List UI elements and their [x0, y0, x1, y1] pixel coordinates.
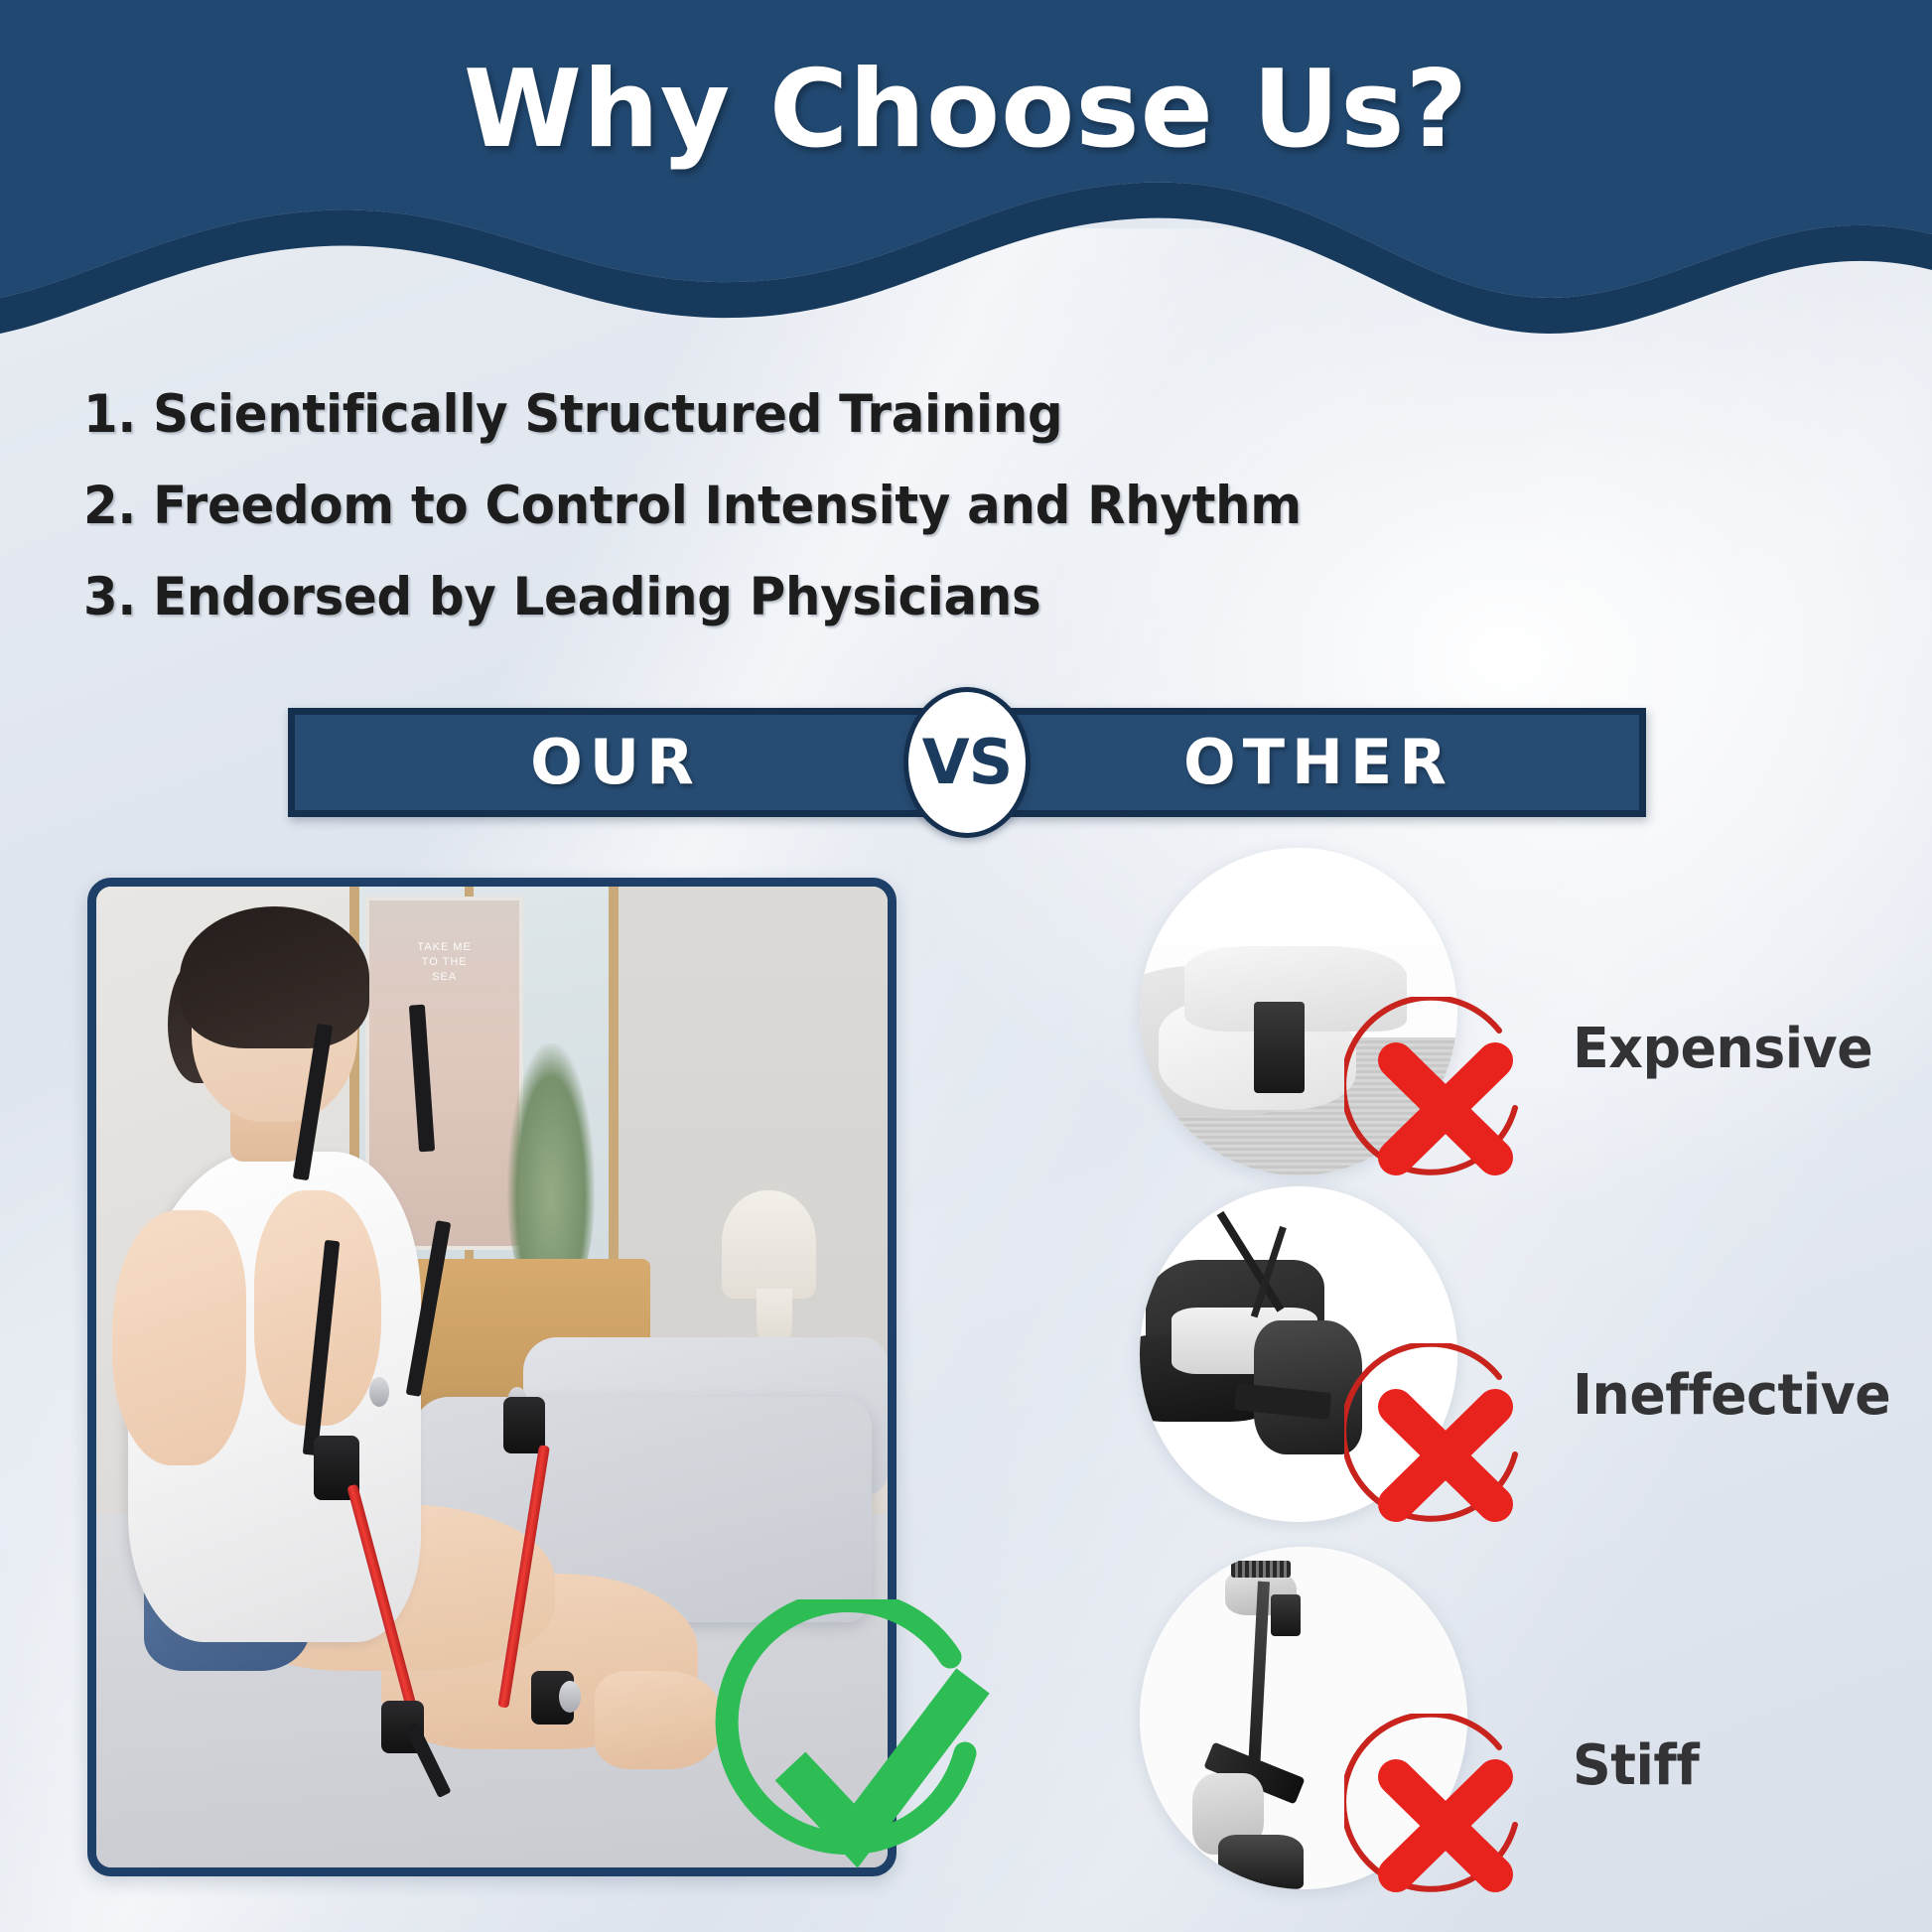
vs-badge-label: VS: [922, 732, 1013, 793]
poster-line-2: TO THE: [365, 955, 523, 970]
other-product-3: Stiff: [1140, 1547, 1894, 1884]
model-hair: [180, 906, 369, 1048]
poster-text: TAKE ME TO THE SEA: [365, 940, 523, 985]
other-product-2: Ineffective: [1140, 1186, 1894, 1504]
banner-label-other: OTHER: [991, 708, 1646, 817]
header-banner: Why Choose Us?: [0, 0, 1932, 338]
model-left-arm: [112, 1210, 246, 1465]
other-product-2-label: Ineffective: [1573, 1363, 1890, 1428]
red-x-circle-icon: [1344, 1343, 1555, 1554]
benefit-item-2: 2. Freedom to Control Intensity and Rhyt…: [83, 461, 1297, 552]
carabiner-left: [369, 1377, 389, 1407]
other-product-3-label: Stiff: [1573, 1733, 1699, 1798]
infographic-canvas: Why Choose Us? 1. Scientifically Structu…: [0, 0, 1932, 1932]
other-product-2-x: [1344, 1343, 1555, 1554]
benefit-item-1: 1. Scientifically Structured Training: [83, 369, 1297, 461]
other-product-1: Expensive: [1140, 848, 1894, 1166]
red-x-circle-icon: [1344, 1714, 1555, 1924]
comparison-banner: OUR OTHER VS: [288, 708, 1646, 817]
green-check-circle-icon: [709, 1599, 1033, 1923]
poster-line-1: TAKE ME: [365, 940, 523, 955]
table-lamp-shade: [722, 1190, 817, 1299]
device-base-pad: [1218, 1835, 1304, 1889]
red-x-circle-icon: [1344, 997, 1555, 1207]
band-anchor-right: [503, 1397, 544, 1453]
other-product-1-x: [1344, 997, 1555, 1207]
model-foot: [595, 1671, 722, 1769]
other-product-1-label: Expensive: [1573, 1017, 1872, 1081]
our-product-check-badge: [709, 1599, 1033, 1923]
page-title: Why Choose Us?: [0, 48, 1932, 172]
other-product-3-x: [1344, 1714, 1555, 1924]
benefit-item-3: 3. Endorsed by Leading Physicians: [83, 552, 1297, 643]
poster-line-3: SEA: [365, 970, 523, 985]
photo-top-fade: [1140, 848, 1457, 946]
device-toe-strap: [1231, 1561, 1290, 1578]
banner-label-our: OUR: [288, 708, 943, 817]
black-ankle-strap: [1254, 1002, 1305, 1093]
benefits-list: 1. Scientifically Structured Training 2.…: [83, 369, 1374, 643]
device-joint: [1271, 1594, 1301, 1635]
vs-badge: VS: [903, 687, 1031, 838]
